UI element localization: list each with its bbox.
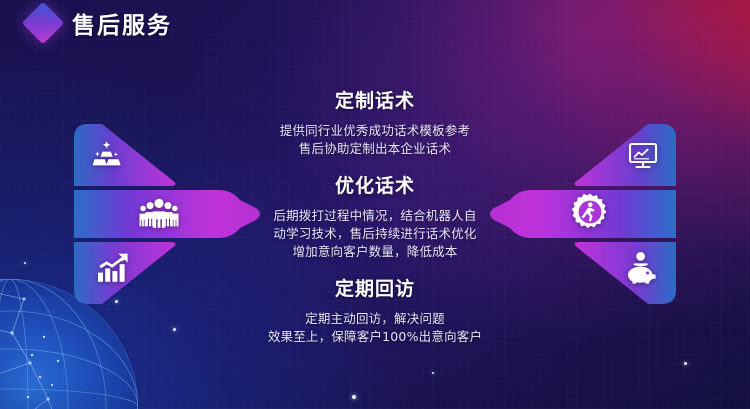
diamond-icon bbox=[22, 2, 64, 44]
content-block-2: 优化话术 后期拨打过程中情况，结合机器人自 动学习技术，售后持续进行话术优化 增… bbox=[225, 171, 525, 261]
block-line: 定期主动回访，解决问题 bbox=[225, 310, 525, 328]
person-in-gear-icon bbox=[570, 192, 610, 232]
block-line: 增加意向客户数量，降低成本 bbox=[225, 243, 525, 261]
slide-header: 售后服务 bbox=[28, 6, 172, 40]
block-line: 动学习技术，售后持续进行话术优化 bbox=[225, 225, 525, 243]
block-heading: 优化话术 bbox=[225, 171, 525, 198]
growth-chart-icon bbox=[96, 250, 130, 284]
presentation-monitor-icon bbox=[626, 139, 660, 173]
star-dot bbox=[352, 395, 356, 399]
gold-bars-icon bbox=[90, 139, 124, 173]
star-dot bbox=[173, 328, 176, 331]
center-content: 定制话术 提供同行业优秀成功话术模板参考 售后协助定制出本企业话术 优化话术 后… bbox=[225, 86, 525, 359]
people-group-icon bbox=[138, 192, 180, 234]
star-dot bbox=[24, 262, 26, 264]
content-block-1: 定制话术 提供同行业优秀成功话术模板参考 售后协助定制出本企业话术 bbox=[225, 86, 525, 158]
block-line: 提供同行业优秀成功话术模板参考 bbox=[225, 122, 525, 140]
content-block-3: 定期回访 定期主动回访，解决问题 效果至上，保障客户100%出意向客户 bbox=[225, 274, 525, 346]
block-heading: 定期回访 bbox=[225, 274, 525, 301]
star-dot bbox=[684, 362, 687, 365]
star-dot bbox=[432, 372, 434, 374]
block-line: 售后协助定制出本企业话术 bbox=[225, 140, 525, 158]
slide-canvas: 售后服务 bbox=[0, 0, 750, 409]
piggy-bank-icon bbox=[624, 250, 658, 284]
page-title: 售后服务 bbox=[72, 6, 172, 40]
block-line: 后期拨打过程中情况，结合机器人自 bbox=[225, 207, 525, 225]
block-heading: 定制话术 bbox=[225, 86, 525, 113]
block-line: 效果至上，保障客户100%出意向客户 bbox=[225, 328, 525, 346]
